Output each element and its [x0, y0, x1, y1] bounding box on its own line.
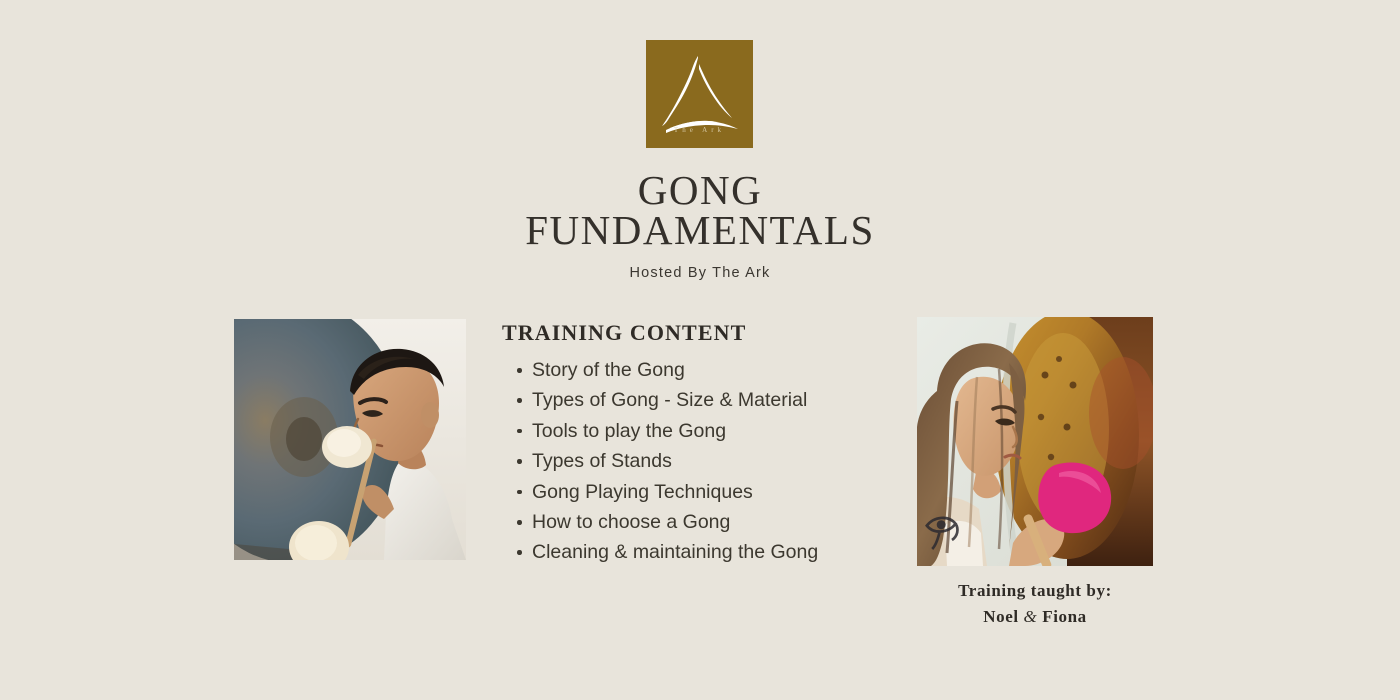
instructor-name-1: Noel [983, 607, 1018, 626]
list-item: Tools to play the Gong [502, 416, 902, 446]
logo-wordmark: The Ark [646, 126, 753, 134]
caption-line-1: Training taught by: [917, 578, 1153, 604]
list-item: Story of the Gong [502, 355, 902, 385]
list-item: How to choose a Gong [502, 507, 902, 537]
photo-woman-playing-gong [917, 317, 1153, 566]
training-content-list: Story of the Gong Types of Gong - Size &… [502, 355, 902, 568]
list-item: Types of Stands [502, 446, 902, 476]
ampersand: & [1024, 607, 1038, 626]
page-title-line-1: GONG [0, 170, 1400, 210]
training-content-block: TRAINING CONTENT Story of the Gong Types… [502, 320, 902, 568]
poster-canvas: The Ark GONG FUNDAMENTALS Hosted By The … [0, 0, 1400, 700]
training-credit-caption: Training taught by: Noel & Fiona [917, 578, 1153, 630]
list-item: Cleaning & maintaining the Gong [502, 537, 902, 567]
title-block: GONG FUNDAMENTALS Hosted By The Ark [0, 170, 1400, 281]
page-title-line-2: FUNDAMENTALS [0, 210, 1400, 250]
list-item: Types of Gong - Size & Material [502, 385, 902, 415]
list-item: Gong Playing Techniques [502, 477, 902, 507]
the-ark-logo: The Ark [646, 40, 753, 148]
content-heading: TRAINING CONTENT [502, 320, 902, 346]
caption-line-2: Noel & Fiona [917, 604, 1153, 630]
photo-man-playing-gong [234, 319, 466, 560]
instructor-name-2: Fiona [1042, 607, 1087, 626]
page-subtitle: Hosted By The Ark [0, 265, 1400, 281]
